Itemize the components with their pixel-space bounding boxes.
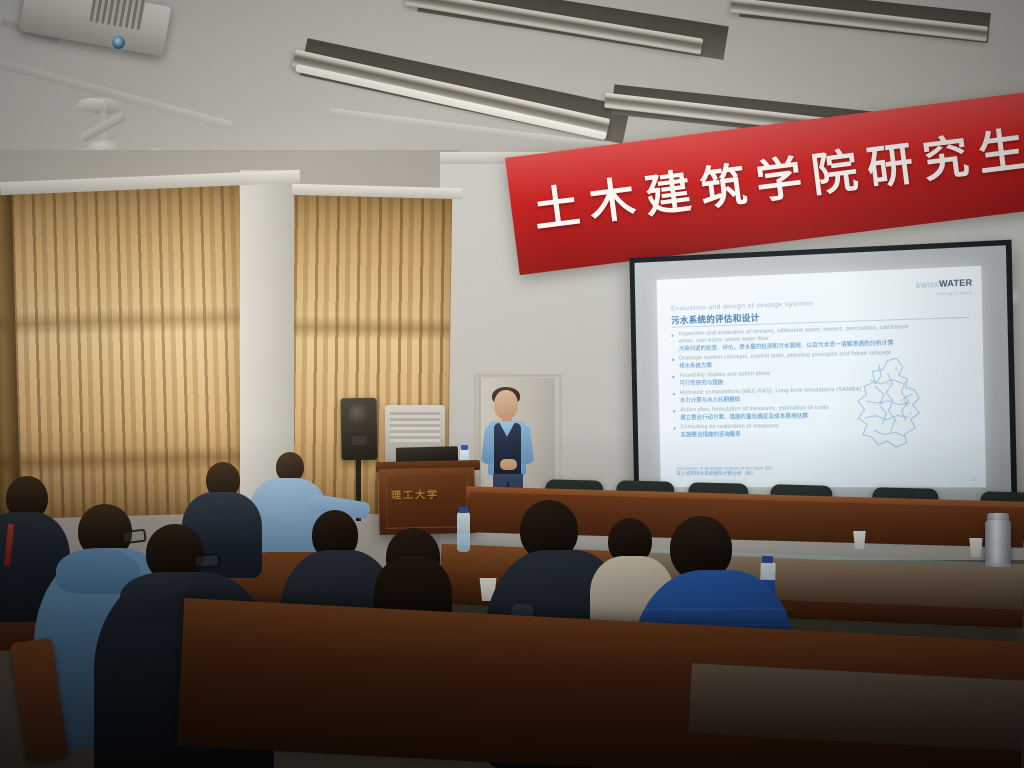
ceiling-dome-light	[77, 98, 107, 112]
logo-subtext: SOLUTIONS	[916, 291, 973, 297]
bullet-dot-icon	[672, 334, 674, 336]
audience-glasses-icon	[193, 553, 220, 569]
water-bottle[interactable]	[457, 512, 470, 552]
logo-text-part1: swiss	[916, 279, 940, 290]
presenter-head	[494, 390, 518, 419]
slide-title-english: Evaluation and design of sewage systems	[671, 300, 813, 312]
bullet-dot-icon	[673, 410, 675, 412]
projection-screen-surface: swissWATER SOLUTIONS Evaluation and desi…	[634, 245, 1011, 504]
swisswater-logo: swissWATER SOLUTIONS	[915, 273, 972, 298]
bullet-dot-icon	[672, 359, 674, 361]
speaker-cone-icon	[348, 404, 370, 426]
bullet-dot-icon	[672, 376, 674, 378]
presenter-hands	[500, 459, 517, 470]
logo-text-part2: WATER	[939, 278, 973, 289]
bullet-dot-icon	[673, 393, 675, 395]
presentation-slide: swissWATER SOLUTIONS Evaluation and desi…	[657, 266, 987, 488]
list-item: Inspection and evaluation of streams, in…	[672, 324, 910, 354]
slide-figure-caption: Simulation of drainage system of the tow…	[676, 465, 831, 477]
lectern-inscription: 理工大学	[391, 485, 463, 502]
slide-page-number: 12	[972, 477, 977, 482]
speaker-tweeter-icon	[352, 436, 367, 445]
bottle-cap-icon	[459, 507, 468, 513]
bullet-dot-icon	[674, 427, 676, 429]
wall-pillar	[240, 170, 294, 500]
projection-screen-frame: swissWATER SOLUTIONS Evaluation and desi…	[629, 240, 1017, 511]
caption-chinese: 某小城市排水系统模拟计算分析（BI）	[676, 471, 831, 477]
drainage-network-map-icon	[842, 350, 968, 462]
lecture-hall-photo: 土木建筑学院研究生学术汇 swissWATER SOLUTIONS Evalua…	[0, 0, 1024, 768]
bottle-cap-icon	[461, 445, 468, 450]
curtain-shadow-band-3	[272, 315, 450, 341]
air-conditioner-grille-icon	[390, 412, 440, 442]
bottle-cap-icon	[762, 556, 773, 563]
